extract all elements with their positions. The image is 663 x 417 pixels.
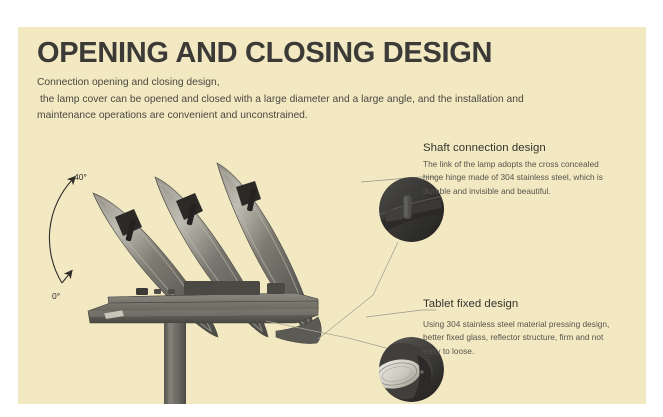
base-block-c	[168, 289, 175, 294]
callout-tablet-fixed: Tablet fixed design Using 304 stainless …	[423, 298, 633, 358]
angle-arc-lower-arrow	[62, 273, 70, 283]
angle-arc	[49, 179, 73, 283]
lamp-base-group	[88, 281, 318, 404]
slide-page: OPENING AND CLOSING DESIGN Connection op…	[0, 0, 663, 417]
callout-shaft-body: The link of the lamp adopts the cross co…	[423, 158, 619, 198]
page-title: OPENING AND CLOSING DESIGN	[37, 38, 492, 68]
subtitle-line-3: maintenance operations are convenient an…	[37, 108, 617, 125]
callout-tablet-body: Using 304 stainless steel material press…	[423, 318, 619, 358]
callout-shaft-heading: Shaft connection design	[423, 142, 633, 156]
callout-tablet-heading: Tablet fixed design	[423, 298, 633, 312]
lamp-pole	[164, 323, 186, 404]
page-subtitle: Connection opening and closing design, t…	[37, 75, 617, 125]
lamp-pole-highlight	[168, 323, 173, 404]
lamp-illustration: 40° 0°	[18, 131, 418, 404]
angle-label-min: 0°	[52, 291, 60, 301]
subtitle-line-2: the lamp cover can be opened and closed …	[37, 92, 617, 109]
content-panel: OPENING AND CLOSING DESIGN Connection op…	[18, 27, 646, 404]
base-block-b	[154, 289, 161, 294]
pressing-screw	[420, 370, 423, 373]
base-block-d	[267, 283, 285, 294]
angle-label-max: 40°	[74, 172, 87, 182]
angle-arc-group	[49, 179, 73, 283]
callout-shaft-connection: Shaft connection design The link of the …	[423, 142, 633, 198]
base-block-a	[136, 288, 148, 295]
base-block-main	[184, 281, 260, 295]
subtitle-line-1: Connection opening and closing design,	[37, 75, 617, 92]
